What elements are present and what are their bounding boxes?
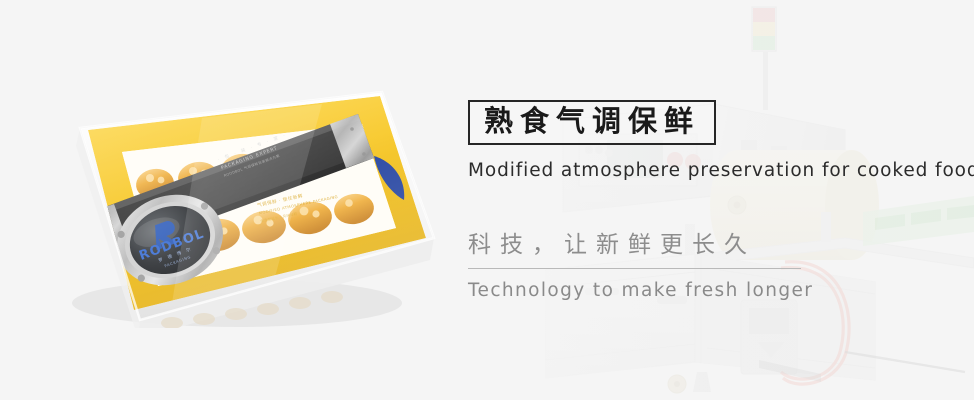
product-package-photo: · 包 · 装 · 专 · 家 · PACKAGING EXPERT ROODB… — [22, 88, 442, 328]
divider-rule — [468, 268, 801, 269]
promo-banner: · 包 · 装 · 专 · 家 · PACKAGING EXPERT ROODB… — [0, 0, 974, 400]
stack-light — [752, 7, 776, 51]
tagline-english: Technology to make fresh longer — [468, 280, 968, 301]
tagline-chinese: 科技，让新鲜更长久 — [468, 225, 968, 259]
headline-box: 熟食气调保鲜 — [468, 100, 716, 145]
caster-wheels — [668, 360, 821, 393]
subtitle-english: Modified atmosphere preservation for coo… — [468, 160, 968, 181]
headline-chinese: 熟食气调保鲜 — [484, 106, 700, 136]
copy-block: 熟食气调保鲜 Modified atmosphere preservation … — [468, 100, 968, 301]
